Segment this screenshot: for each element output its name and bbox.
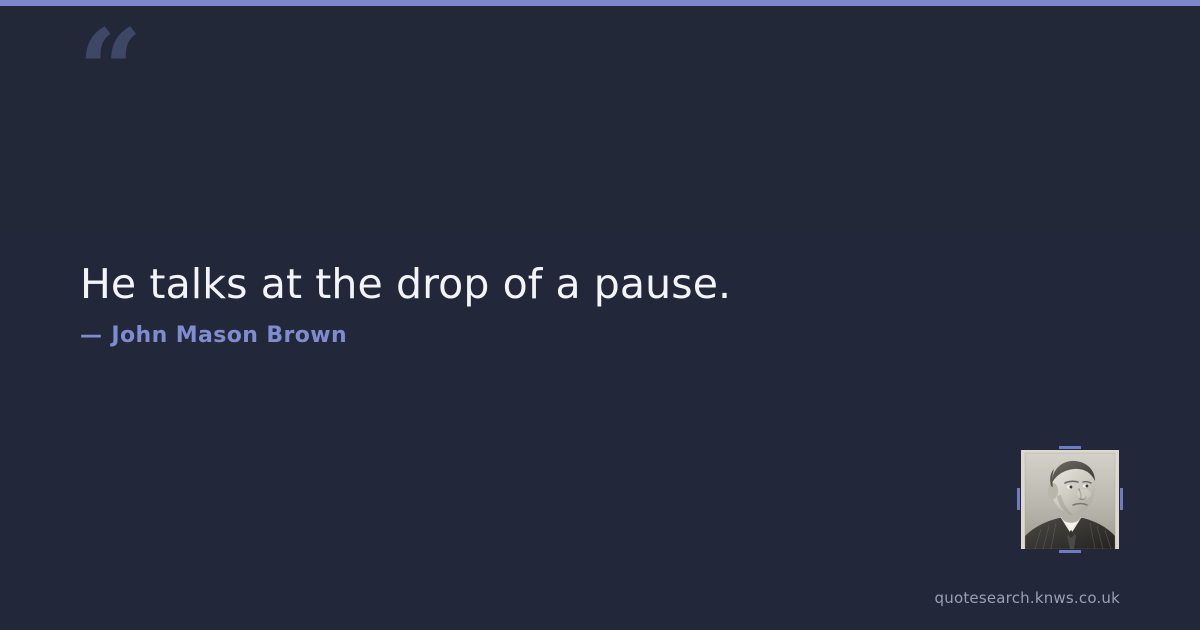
source-url: quotesearch.knws.co.uk bbox=[935, 589, 1120, 607]
portrait-frame-tick-right bbox=[1120, 488, 1123, 510]
portrait-frame-tick-top bbox=[1059, 446, 1081, 449]
author-portrait bbox=[1021, 450, 1119, 549]
attribution: —John Mason Brown bbox=[80, 323, 347, 348]
author-portrait-image bbox=[1021, 450, 1119, 549]
portrait-frame-tick-left bbox=[1017, 488, 1020, 510]
background-tone-band bbox=[0, 6, 1200, 237]
quotation-mark-icon: “ bbox=[78, 16, 140, 128]
quote-card: { "card": { "background_color": "#222739… bbox=[0, 0, 1200, 630]
attribution-author: John Mason Brown bbox=[111, 323, 347, 348]
portrait-frame-tick-bottom bbox=[1059, 550, 1081, 553]
attribution-dash: — bbox=[80, 323, 102, 348]
top-accent-bar bbox=[0, 0, 1200, 6]
quote-text: He talks at the drop of a pause. bbox=[80, 259, 1100, 309]
